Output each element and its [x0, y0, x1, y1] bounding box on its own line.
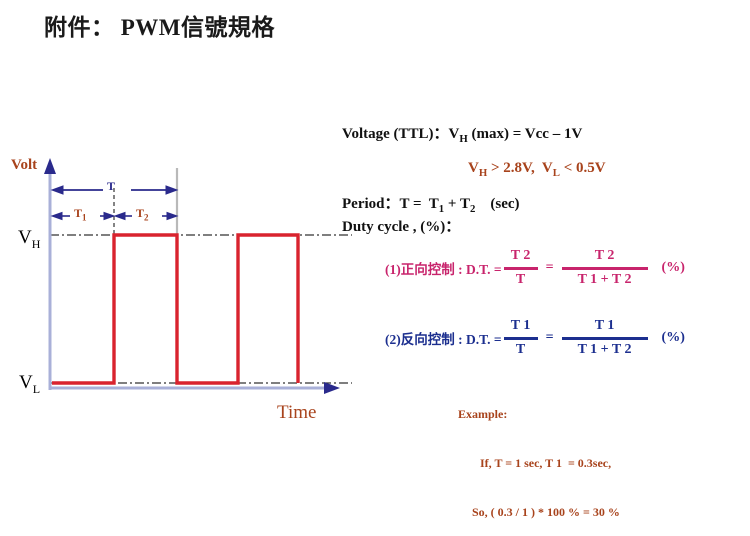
formula-1-unit: (%)	[662, 260, 685, 276]
vh-level-subscript: H	[32, 237, 41, 251]
formula-2-unit: (%)	[662, 330, 685, 346]
formula-1-expanded-denominator: T 1 + T 2	[575, 272, 635, 289]
vh-level-letter: V	[18, 227, 32, 248]
formula-2-expanded-numerator: T 1	[592, 318, 618, 335]
formula-2-lead: (2)反向控制 : D.T. =	[385, 328, 502, 348]
pwm-waveform-chart: Volt Time VH VL T T1 T2	[0, 150, 360, 435]
vh-level-label: VH	[18, 227, 40, 252]
vl-level-label: VL	[19, 372, 40, 397]
formula-2-expanded-bar	[562, 337, 648, 340]
voltage-spec-prefix: Voltage (TTL)：V	[342, 126, 459, 142]
vl-level-letter: V	[19, 372, 33, 393]
period-spec-line: Period：T = T1 + T2 (sec)	[342, 192, 520, 215]
formula-1-fraction-simple: T 2 T	[504, 248, 538, 288]
formula-2-equals: =	[540, 330, 560, 346]
t1-dimension-label: T1	[74, 206, 87, 222]
formula-2-numerator: T 1	[508, 318, 534, 335]
voltage-spec-subscript: H	[459, 133, 467, 145]
period-spec-unit: (sec)	[475, 196, 519, 212]
waveform-svg	[0, 150, 360, 435]
x-axis-label: Time	[277, 402, 316, 424]
voltage-spec-line: Voltage (TTL)：VH (max) = Vcc – 1V	[342, 122, 582, 145]
formula-1-expanded-bar	[562, 267, 648, 270]
x-axis-arrowhead	[324, 382, 340, 394]
period-spec-prefix: Period：T = T	[342, 196, 439, 212]
duty-cycle-formula-forward: (1)正向控制 : D.T. = T 2 T = T 2 T 1 + T 2 (…	[385, 248, 685, 288]
pwm-waveform-trace	[52, 235, 298, 383]
formula-2-fraction-expanded: T 1 T 1 + T 2	[562, 318, 648, 358]
duty-cycle-formula-reverse: (2)反向控制 : D.T. = T 1 T = T 1 T 1 + T 2 (…	[385, 318, 685, 358]
t2-subscript: 2	[144, 212, 149, 222]
t2-letter: T	[136, 206, 144, 220]
page-title: 附件： PWM信號規格	[44, 8, 275, 42]
vl-level-subscript: L	[33, 382, 40, 396]
formula-2-expanded-denominator: T 1 + T 2	[575, 342, 635, 359]
formula-2-fraction-bar	[504, 337, 538, 340]
vh-range-letter: V	[468, 160, 479, 176]
t1-subscript: 1	[82, 212, 87, 222]
duty-cycle-heading: Duty cycle , (%)：	[342, 215, 460, 236]
y-axis-arrowhead	[44, 158, 56, 174]
vh-range-value: > 2.8V, V	[487, 160, 553, 176]
example-result-line: So, ( 0.3 / 1 ) * 100 % = 30 %	[472, 504, 620, 520]
voltage-range-line: VH > 2.8V, VL < 0.5V	[468, 160, 606, 179]
example-block: Example: If, T = 1 sec, T 1 = 0.3sec, So…	[458, 374, 620, 536]
vl-range-value: < 0.5V	[560, 160, 606, 176]
formula-1-lead: (1)正向控制 : D.T. =	[385, 258, 502, 278]
period-dimension-label: T	[107, 179, 115, 194]
voltage-spec-suffix: (max) = Vcc – 1V	[468, 126, 583, 142]
t1-letter: T	[74, 206, 82, 220]
example-heading: Example:	[458, 406, 620, 422]
formula-1-denominator: T	[513, 272, 528, 289]
formula-1-numerator: T 2	[508, 248, 534, 265]
formula-1-equals: =	[540, 260, 560, 276]
period-spec-mid: + T	[444, 196, 470, 212]
formula-1-fraction-expanded: T 2 T 1 + T 2	[562, 248, 648, 288]
vh-range-subscript: H	[479, 167, 487, 179]
formula-1-fraction-bar	[504, 267, 538, 270]
formula-2-denominator: T	[513, 342, 528, 359]
example-given-line: If, T = 1 sec, T 1 = 0.3sec,	[480, 455, 620, 471]
formula-1-expanded-numerator: T 2	[592, 248, 618, 265]
t2-dimension-label: T2	[136, 206, 149, 222]
vl-range-subscript: L	[553, 167, 560, 179]
y-axis-label: Volt	[11, 157, 37, 174]
formula-2-fraction-simple: T 1 T	[504, 318, 538, 358]
